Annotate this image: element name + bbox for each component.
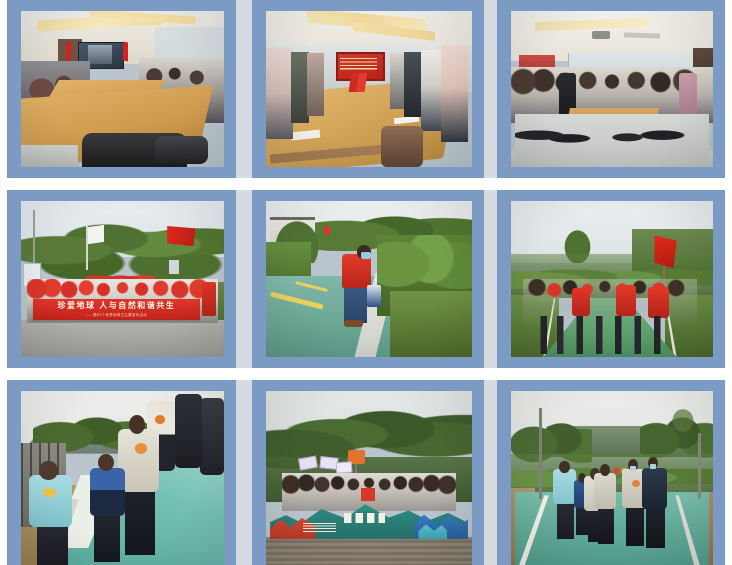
- photo-cell-2[interactable]: [252, 0, 484, 178]
- column-gap-5: [236, 380, 252, 565]
- column-gap-6: [484, 380, 497, 565]
- photo-row-3: [0, 380, 732, 565]
- photo-6-image: [511, 201, 713, 357]
- banner-sub-text: ——第52个世界地球日主题宣传活动: [86, 312, 147, 317]
- column-gap-1: [236, 0, 252, 178]
- photo-cell-1[interactable]: [7, 0, 236, 178]
- photo-9-image: [511, 391, 713, 565]
- photo-7-image: [21, 391, 224, 565]
- photo-2-image: [266, 11, 472, 167]
- column-gap-4: [484, 190, 497, 368]
- photo-row-2: 珍爱地球 人与自然和谐共生 ——第52个世界地球日主题宣传活动: [0, 190, 732, 368]
- photo-5-image: [266, 201, 472, 357]
- photo-gallery: 珍爱地球 人与自然和谐共生 ——第52个世界地球日主题宣传活动: [0, 0, 732, 565]
- photo-cell-8[interactable]: [252, 380, 484, 565]
- photo-cell-5[interactable]: [252, 190, 484, 368]
- banner-main-text: 珍爱地球 人与自然和谐共生: [58, 302, 176, 310]
- column-gap-3: [236, 190, 252, 368]
- photo-row-1: [0, 0, 732, 178]
- photo-4-image: 珍爱地球 人与自然和谐共生 ——第52个世界地球日主题宣传活动: [21, 201, 224, 357]
- photo-cell-6[interactable]: [497, 190, 725, 368]
- photo-cell-7[interactable]: [7, 380, 236, 565]
- photo-cell-4[interactable]: 珍爱地球 人与自然和谐共生 ——第52个世界地球日主题宣传活动: [7, 190, 236, 368]
- column-gap-2: [484, 0, 497, 178]
- row-gap-2: [0, 368, 732, 380]
- photo-cell-9[interactable]: [497, 380, 725, 565]
- row-gap-1: [0, 178, 732, 190]
- photo-cell-3[interactable]: [497, 0, 725, 178]
- photo-1-image: [21, 11, 224, 167]
- photo-3-image: [511, 11, 713, 167]
- photo-4-banner: 珍爱地球 人与自然和谐共生 ——第52个世界地球日主题宣传活动: [33, 299, 199, 319]
- photo-8-image: [266, 391, 472, 565]
